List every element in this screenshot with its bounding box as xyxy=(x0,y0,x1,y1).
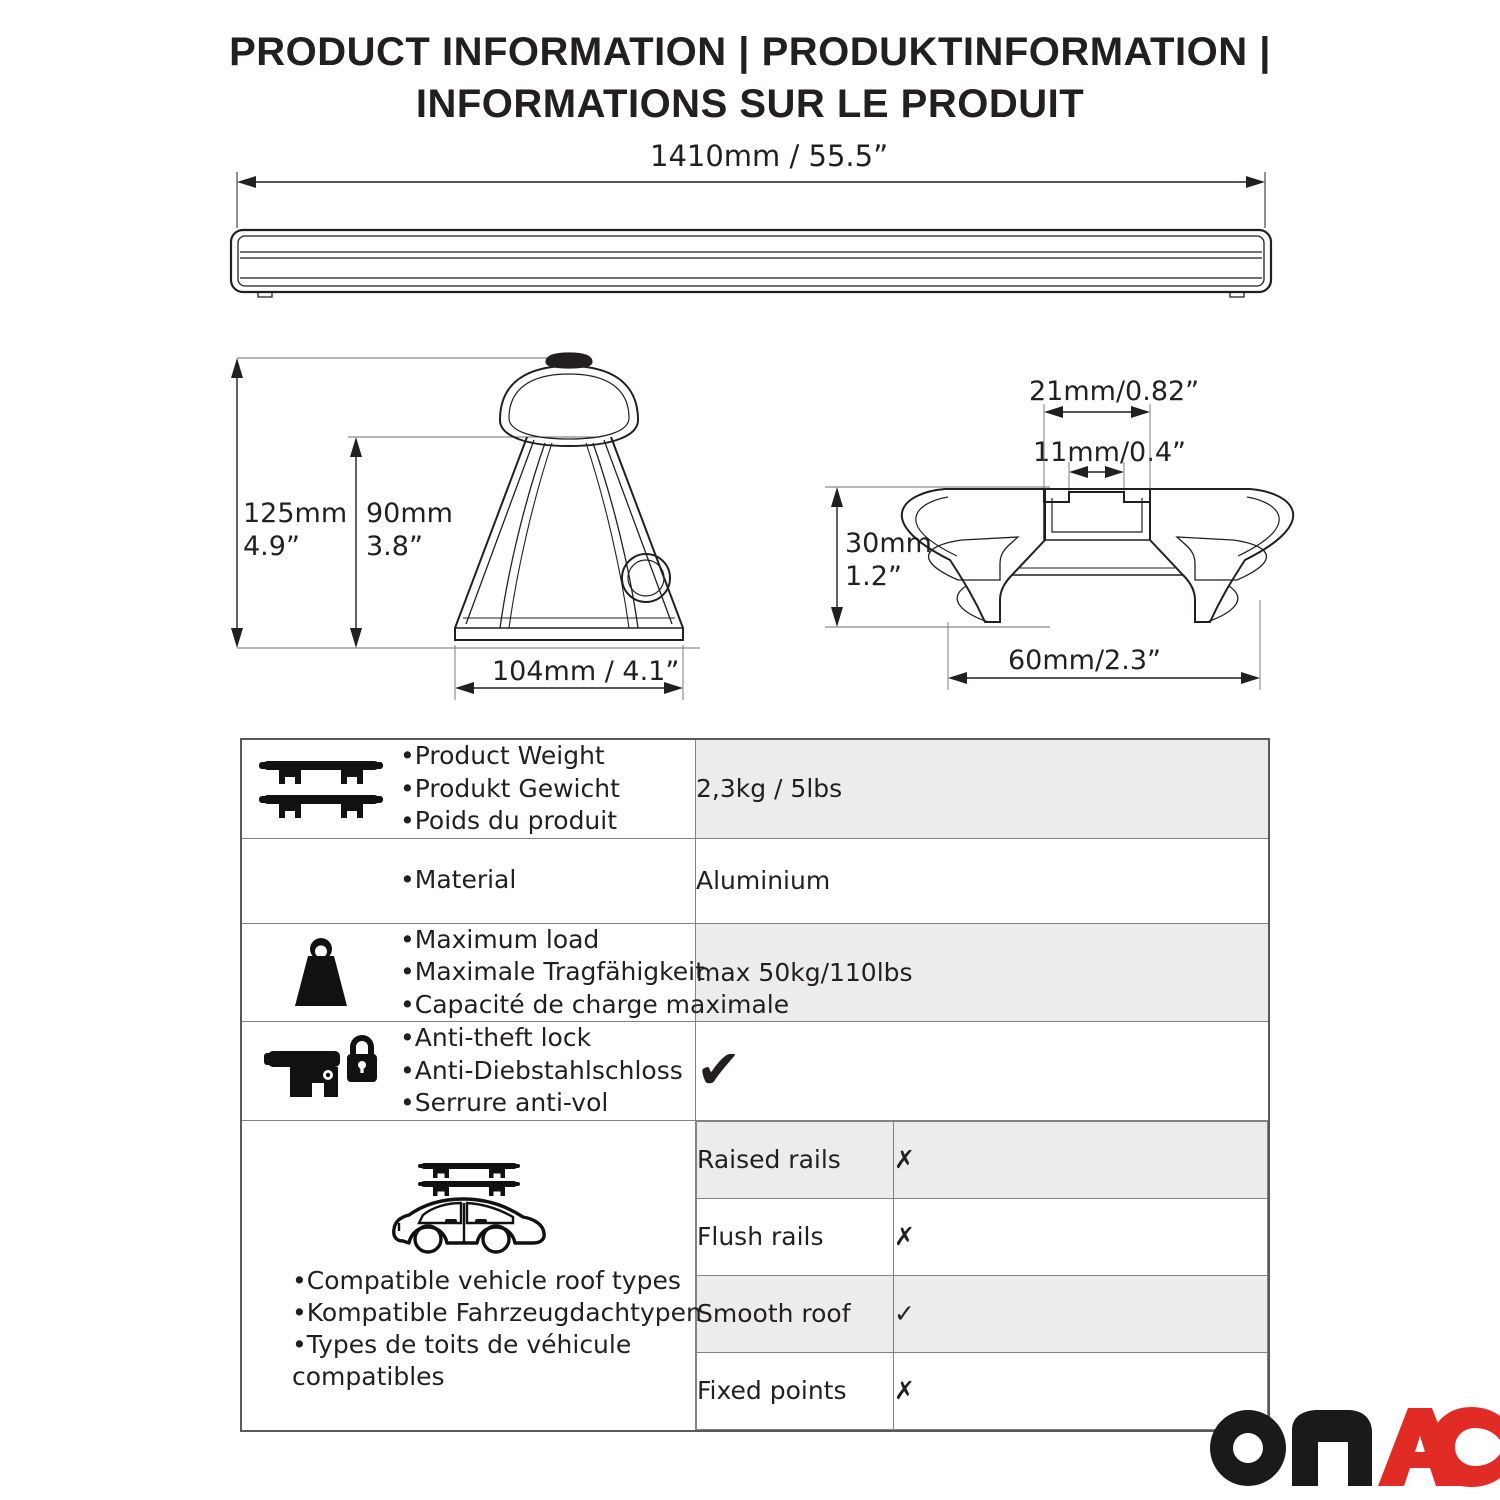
row-value-product-weight: 2,3kg / 5lbs xyxy=(696,739,1270,838)
weight-icon xyxy=(242,934,400,1010)
row-label-maximum-load: •Maximum load •Maximale Tragfähigkeit •C… xyxy=(241,923,696,1022)
row-bullets-roof-types: •Compatible vehicle roof types •Kompatib… xyxy=(242,1265,695,1393)
dim-height-total-in: 4.9” xyxy=(243,531,300,564)
roof-type-row-flush-rails: Flush rails ✗ xyxy=(697,1198,1268,1275)
dim-profile-width: 60mm/2.3” xyxy=(1008,645,1161,678)
logo-letter-m xyxy=(1292,1410,1372,1486)
roof-type-name: Smooth roof xyxy=(697,1275,894,1352)
dim-slot-inner: 11mm/0.4” xyxy=(1033,437,1186,470)
product-spec-table: •Product Weight •Produkt Gewicht •Poids … xyxy=(240,738,1270,1432)
bullet-de: •Anti-Diebstahlschloss xyxy=(400,1055,695,1088)
table-row-material: •Material Aluminium xyxy=(241,838,1269,923)
dim-foot-width: 104mm / 4.1” xyxy=(492,656,679,689)
table-row-maximum-load: •Maximum load •Maximale Tragfähigkeit •C… xyxy=(241,923,1269,1022)
roof-types-subtable-cell: Raised rails ✗ Flush rails ✗ Smooth roof… xyxy=(696,1120,1270,1431)
title-line-2: INFORMATIONS SUR LE PRODUIT xyxy=(0,78,1500,130)
row-bullets-material: •Material xyxy=(400,864,695,897)
omac-logo xyxy=(1200,1402,1500,1494)
bullet-fr: •Poids du produit xyxy=(400,805,695,838)
bullet-en: •Compatible vehicle roof types xyxy=(292,1265,695,1297)
roof-type-row-raised-rails: Raised rails ✗ xyxy=(697,1121,1268,1198)
row-value-material: Aluminium xyxy=(696,838,1270,923)
dim-height-inner-in: 3.8” xyxy=(366,531,423,564)
bullet-en: •Anti-theft lock xyxy=(400,1022,695,1055)
roof-type-name: Raised rails xyxy=(697,1121,894,1198)
bullet-de: •Produkt Gewicht xyxy=(400,773,695,806)
table-row-roof-types: •Compatible vehicle roof types •Kompatib… xyxy=(241,1120,1269,1431)
car-with-roof-bars-icon xyxy=(242,1157,695,1261)
roof-type-mark-cross-icon: ✗ xyxy=(894,1121,1268,1198)
dim-height-total-mm: 125mm xyxy=(243,498,347,531)
check-mark-icon: ✔ xyxy=(696,1046,741,1095)
lock-icon xyxy=(242,1035,400,1107)
dim-height-inner-mm: 90mm xyxy=(366,498,453,531)
logo-letter-o xyxy=(1210,1410,1286,1486)
bullet-en: •Maximum load xyxy=(400,924,789,957)
table-row-product-weight: •Product Weight •Produkt Gewicht •Poids … xyxy=(241,739,1269,838)
bullet-en: •Product Weight xyxy=(400,740,695,773)
row-label-roof-types: •Compatible vehicle roof types •Kompatib… xyxy=(241,1120,696,1431)
dim-length-label: 1410mm / 55.5” xyxy=(650,139,888,174)
roof-types-subtable: Raised rails ✗ Flush rails ✗ Smooth roof… xyxy=(696,1121,1268,1430)
roof-type-mark-check-icon: ✓ xyxy=(894,1275,1268,1352)
table-row-anti-theft-lock: •Anti-theft lock •Anti-Diebstahlschloss … xyxy=(241,1022,1269,1121)
bullet-fr: •Serrure anti-vol xyxy=(400,1087,695,1120)
bullet-fr: •Capacité de charge maximale xyxy=(400,989,789,1022)
row-label-anti-theft-lock: •Anti-theft lock •Anti-Diebstahlschloss … xyxy=(241,1022,696,1121)
bullet-fr: •Types de toits de véhicule compatibles xyxy=(292,1329,695,1393)
roof-type-row-smooth-roof: Smooth roof ✓ xyxy=(697,1275,1268,1352)
row-bullets-product-weight: •Product Weight •Produkt Gewicht •Poids … xyxy=(400,740,695,838)
bullet-en: •Material xyxy=(400,864,695,897)
roof-type-row-fixed-points: Fixed points ✗ xyxy=(697,1352,1268,1429)
title-line-1: PRODUCT INFORMATION | PRODUKTINFORMATION… xyxy=(0,26,1500,78)
row-label-product-weight: •Product Weight •Produkt Gewicht •Poids … xyxy=(241,739,696,838)
row-value-anti-theft-lock: ✔ xyxy=(696,1022,1270,1121)
roof-bars-icon xyxy=(242,755,400,823)
roof-type-name: Flush rails xyxy=(697,1198,894,1275)
dim-profile-height-mm: 30mm xyxy=(845,528,932,561)
omac-logo-svg xyxy=(1200,1402,1500,1494)
dim-slot-outer: 21mm/0.82” xyxy=(1029,376,1199,409)
dim-profile-height-in: 1.2” xyxy=(845,561,902,594)
roof-type-name: Fixed points xyxy=(697,1352,894,1429)
row-label-material: •Material xyxy=(241,838,696,923)
page-title: PRODUCT INFORMATION | PRODUKTINFORMATION… xyxy=(0,26,1500,130)
row-bullets-anti-theft-lock: •Anti-theft lock •Anti-Diebstahlschloss … xyxy=(400,1022,695,1120)
roof-type-mark-cross-icon: ✗ xyxy=(894,1198,1268,1275)
bullet-de: •Kompatible Fahrzeugdachtypen xyxy=(292,1297,695,1329)
